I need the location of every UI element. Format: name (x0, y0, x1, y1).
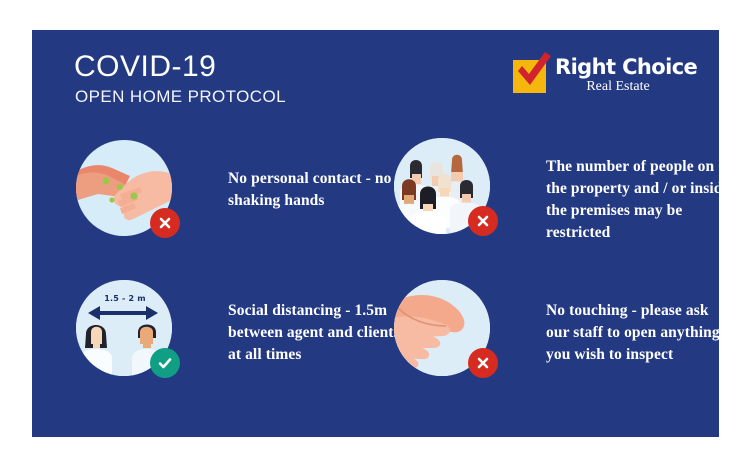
brand-logo: Right Choice Real Estate (511, 56, 681, 106)
close-icon (157, 215, 173, 231)
protocol-text: No personal contact - no shaking hands (228, 168, 403, 212)
checkmark-icon (510, 50, 554, 94)
logo-name: Right Choice (555, 56, 683, 78)
status-badge-deny (468, 348, 498, 378)
protocol-text: Social distancing - 1.5m between agent a… (228, 300, 408, 366)
status-badge-deny (468, 206, 498, 236)
close-icon (475, 213, 491, 229)
distance-label: 1.5 - 2 m (96, 294, 154, 303)
close-icon (475, 355, 491, 371)
logo-text: Right Choice Real Estate (555, 56, 683, 94)
covid-protocol-poster: COVID-19 OPEN HOME PROTOCOL Right Choice… (32, 30, 719, 437)
check-icon (156, 354, 174, 372)
protocol-text: No touching - please ask our staff to op… (546, 300, 731, 366)
icon-container: 1.5 - 2 m (76, 280, 172, 376)
icon-container (394, 138, 490, 234)
logo-tagline: Real Estate (555, 79, 683, 94)
icon-container (76, 140, 172, 236)
status-badge-deny (150, 208, 180, 238)
protocol-text: The number of people on the property and… (546, 156, 731, 244)
page-subtitle: OPEN HOME PROTOCOL (75, 88, 286, 105)
status-badge-allow (150, 348, 180, 378)
icon-container (394, 280, 490, 376)
page-title: COVID-19 (74, 52, 216, 82)
